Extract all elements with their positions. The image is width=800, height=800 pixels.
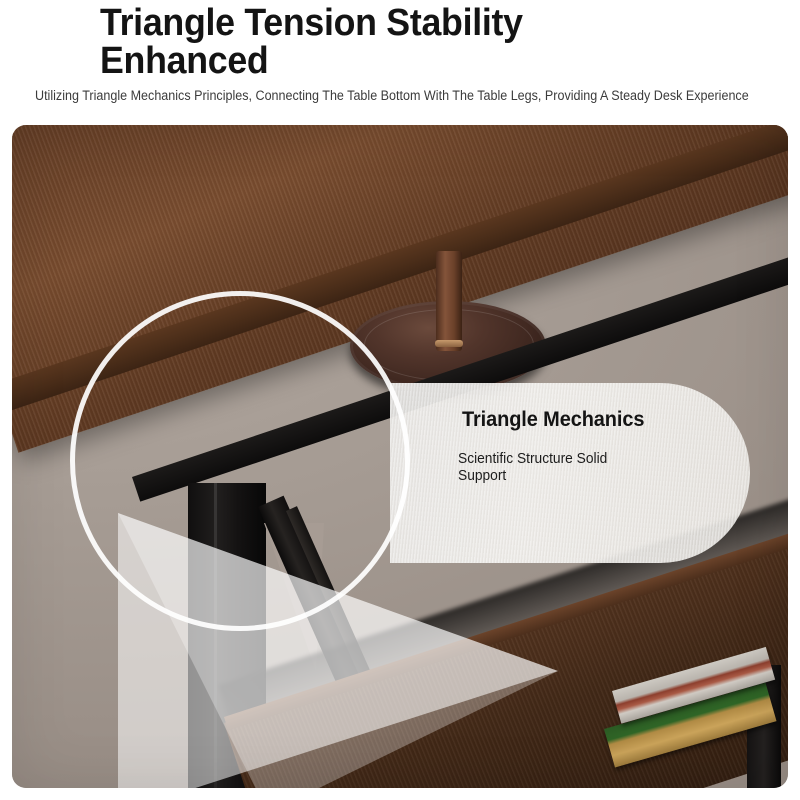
callout-panel: Triangle Mechanics Scientific Structure … — [390, 383, 750, 563]
page-subtitle: Utilizing Triangle Mechanics Principles,… — [35, 88, 723, 104]
page-title: Triangle Tension Stability Enhanced — [100, 4, 664, 80]
lamp-collar — [435, 340, 463, 347]
product-photo: Triangle Mechanics Scientific Structure … — [12, 125, 788, 788]
product-feature-page: Triangle Tension Stability Enhanced Util… — [0, 0, 800, 800]
header: Triangle Tension Stability Enhanced Util… — [0, 0, 800, 125]
callout-subtitle: Scientific Structure Solid Support — [458, 451, 639, 485]
lamp-pole — [436, 251, 462, 351]
photo-scene: Triangle Mechanics Scientific Structure … — [12, 125, 788, 788]
callout-title: Triangle Mechanics — [462, 408, 644, 432]
